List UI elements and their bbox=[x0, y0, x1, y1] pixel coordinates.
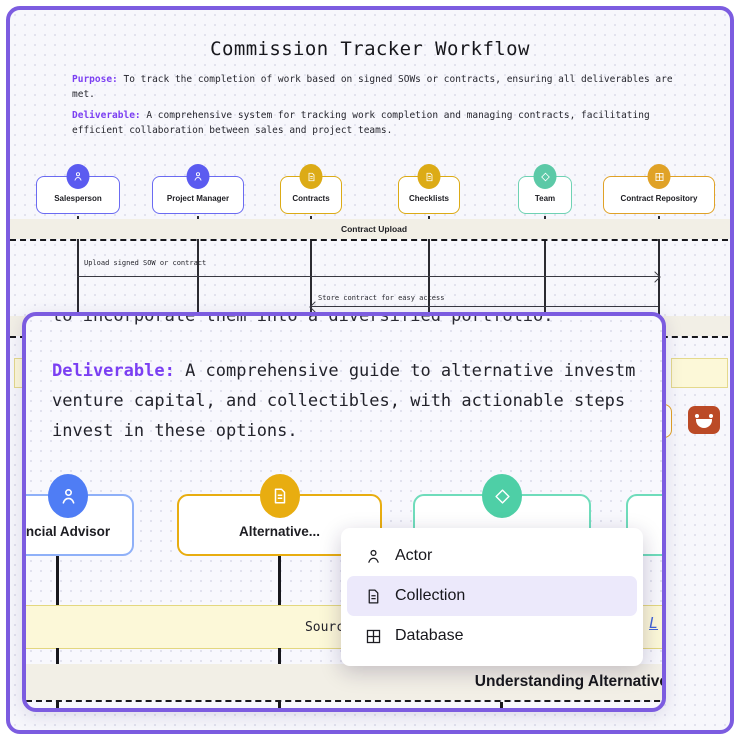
deliverable-label: Deliverable: bbox=[52, 361, 175, 381]
node-salesperson[interactable]: Salesperson bbox=[36, 176, 120, 214]
smiley-avatar-icon bbox=[688, 406, 720, 434]
clipped-text-line: to incorporate them into a diversified p… bbox=[52, 312, 554, 326]
overlay-deliverable-block: Deliverable: A comprehensive guide to al… bbox=[52, 356, 662, 446]
overlay-lifeline bbox=[278, 702, 281, 712]
node-label: Contract Repository bbox=[621, 194, 698, 203]
message-arrow-line bbox=[77, 276, 659, 277]
phase-band-contract-upload: Contract Upload bbox=[10, 219, 734, 239]
collection-icon bbox=[260, 474, 300, 518]
node-team[interactable]: Team bbox=[518, 176, 572, 214]
actor-icon bbox=[48, 474, 88, 518]
actor-icon bbox=[67, 164, 90, 189]
menu-item-collection[interactable]: Collection bbox=[347, 576, 637, 616]
node-contract-repository[interactable]: Contract Repository bbox=[603, 176, 715, 214]
deliverable-paragraph: Deliverable: A comprehensive system for … bbox=[72, 108, 682, 138]
overlay-lifeline bbox=[500, 702, 503, 712]
node-label: ncial Advisor bbox=[26, 524, 110, 539]
purpose-label: Purpose: bbox=[72, 74, 118, 85]
diamond-icon bbox=[534, 164, 557, 189]
note-box bbox=[671, 358, 728, 388]
deliverable-text: A comprehensive system for tracking work… bbox=[72, 110, 650, 136]
overlay-phase-divider bbox=[26, 700, 666, 702]
phase-band-label: Contract Upload bbox=[341, 224, 407, 234]
node-type-dropdown-menu[interactable]: Actor Collection Database bbox=[341, 528, 643, 666]
page-title: Commission Tracker Workflow bbox=[10, 38, 730, 60]
lifeline-node-row: Salesperson Project Manager Contracts Ch… bbox=[10, 166, 734, 226]
actor-icon bbox=[187, 164, 210, 189]
collection-icon bbox=[418, 164, 441, 189]
deliverable-line-1: A comprehensive guide to alternative inv… bbox=[175, 361, 636, 381]
node-label: Checklists bbox=[409, 194, 449, 203]
overlay-note-link[interactable]: L bbox=[649, 614, 658, 632]
overlay-lifeline bbox=[56, 702, 59, 712]
overlay-node-financial-advisor[interactable]: ncial Advisor bbox=[22, 494, 134, 556]
database-icon bbox=[648, 164, 671, 189]
node-project-manager[interactable]: Project Manager bbox=[152, 176, 244, 214]
deliverable-label: Deliverable: bbox=[72, 110, 141, 121]
node-label: Salesperson bbox=[54, 194, 102, 203]
menu-item-label: Database bbox=[395, 627, 464, 645]
overlay-lifeline bbox=[56, 556, 59, 611]
deliverable-line-2: venture capital, and collectibles, with … bbox=[52, 386, 662, 416]
phase-divider bbox=[10, 239, 734, 241]
database-icon bbox=[361, 628, 385, 645]
purpose-text: To track the completion of work based on… bbox=[72, 74, 673, 100]
deliverable-line-3: invest in these options. bbox=[52, 416, 662, 446]
overlay-lifeline bbox=[278, 556, 281, 611]
menu-item-database[interactable]: Database bbox=[347, 616, 637, 656]
purpose-paragraph: Purpose: To track the completion of work… bbox=[72, 72, 682, 102]
node-label: Alternative... bbox=[239, 524, 320, 539]
overlay-phase-band-label: Understanding Alternative bbox=[475, 673, 666, 691]
node-label: Team bbox=[535, 194, 555, 203]
message-arrow-line bbox=[310, 306, 658, 307]
node-contracts[interactable]: Contracts bbox=[280, 176, 342, 214]
message-label: Store contract for easy access bbox=[318, 294, 444, 302]
node-label: Contracts bbox=[292, 194, 329, 203]
menu-item-actor[interactable]: Actor bbox=[347, 536, 637, 576]
diamond-icon bbox=[482, 474, 522, 518]
node-label: Project Manager bbox=[167, 194, 229, 203]
overlay-phase-band: Understanding Alternative bbox=[26, 664, 666, 700]
menu-item-label: Collection bbox=[395, 587, 465, 605]
message-label: Upload signed SOW or contract bbox=[84, 259, 206, 267]
node-checklists[interactable]: Checklists bbox=[398, 176, 460, 214]
actor-icon bbox=[361, 548, 385, 565]
screen: Commission Tracker Workflow Purpose: To … bbox=[0, 0, 740, 740]
menu-item-label: Actor bbox=[395, 547, 432, 565]
collection-icon bbox=[361, 588, 385, 605]
collection-icon bbox=[300, 164, 323, 189]
